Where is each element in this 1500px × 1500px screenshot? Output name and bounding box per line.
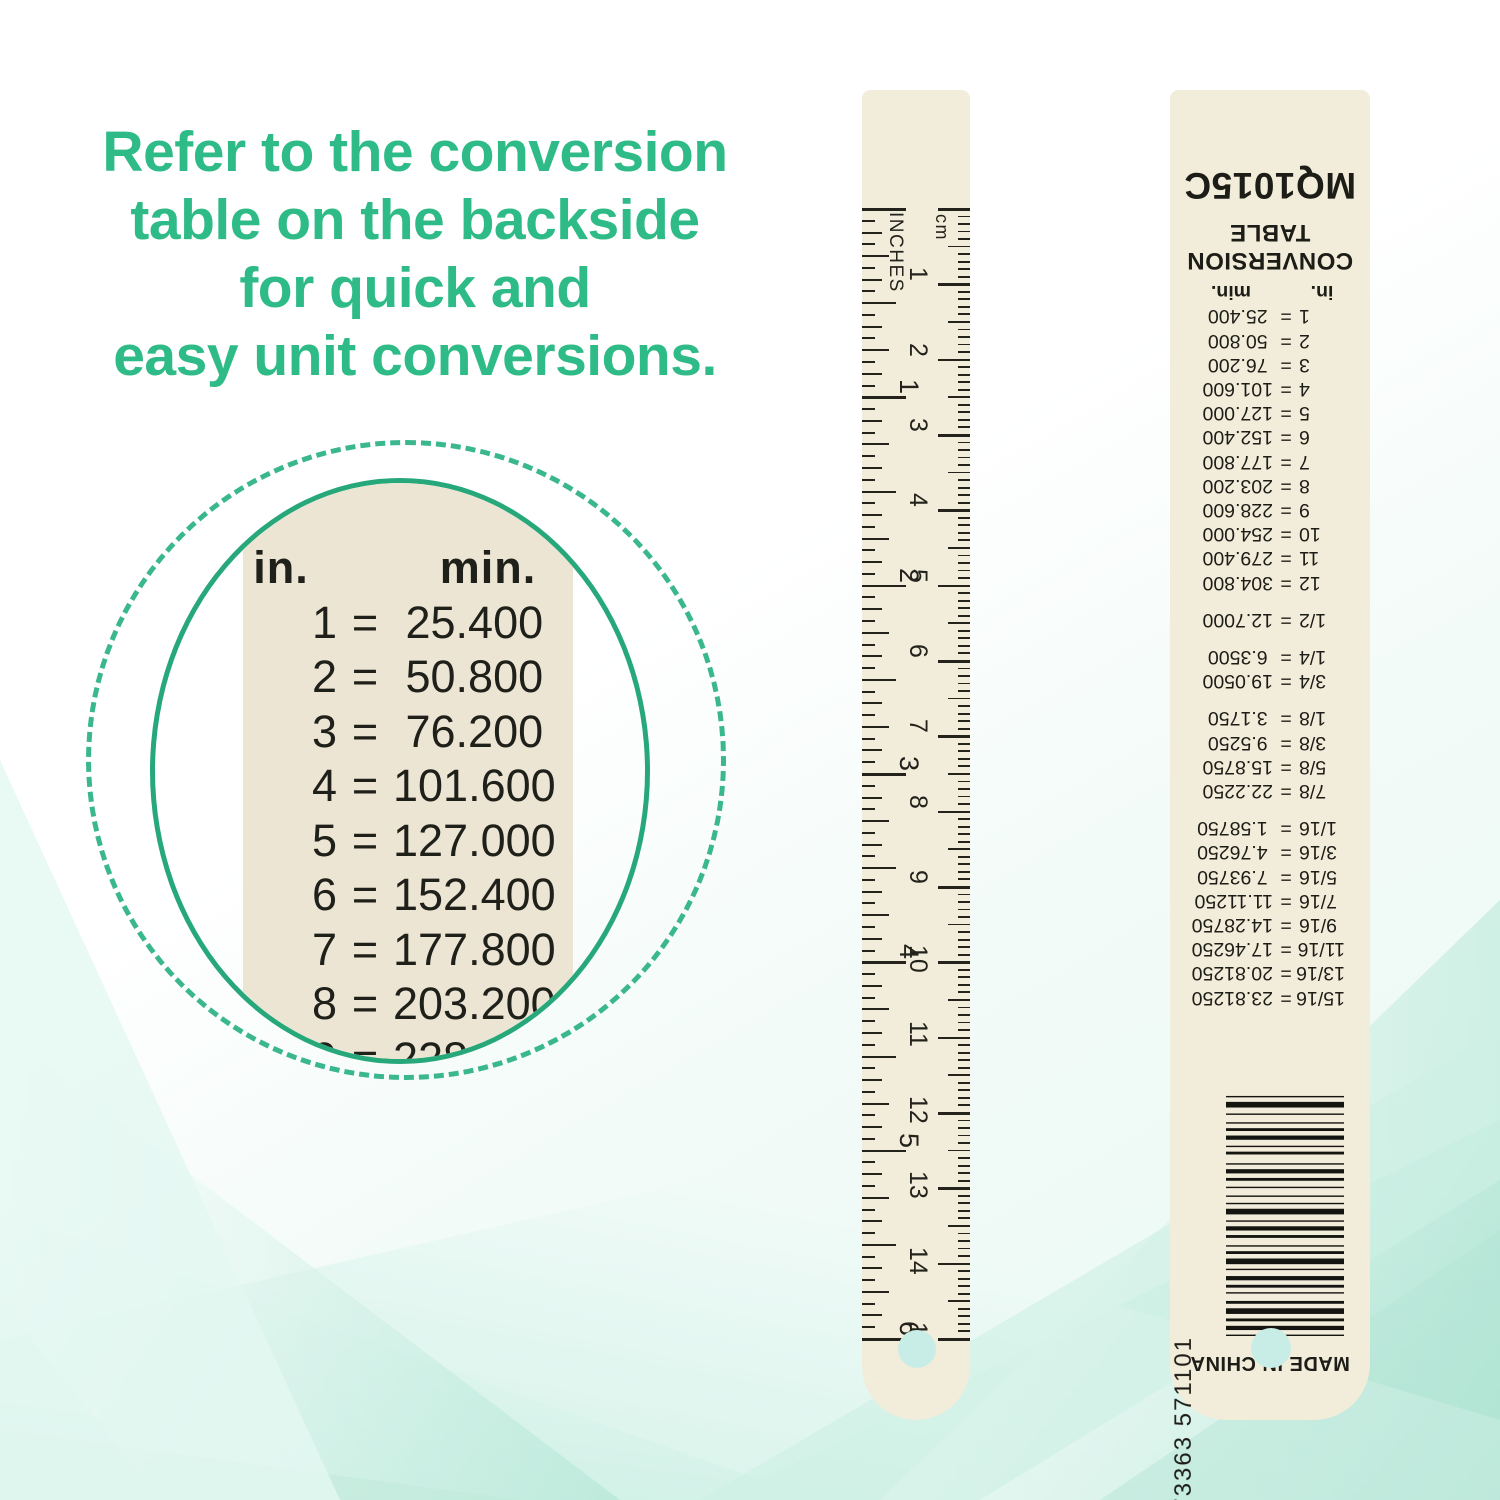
cm-tick (958, 1044, 970, 1046)
equals-sign: = (337, 814, 393, 869)
measure-value: 11 (1299, 546, 1345, 570)
headline-line-1: Refer to the conversion (0, 118, 830, 186)
inch-tick (862, 1279, 875, 1281)
cm-tick (958, 683, 970, 685)
cm-tick (938, 1037, 970, 1040)
inch-tick (862, 337, 875, 339)
cm-tick (958, 690, 970, 692)
cm-tick (958, 1097, 970, 1099)
barcode-number: 6 973363 571101 (1170, 1336, 1416, 1500)
inch-tick (862, 373, 882, 375)
magnifier-lens: in.min.1= 25.4002= 50.8003= 76.2004=101.… (150, 478, 650, 1064)
inch-tick (862, 950, 875, 952)
ruler-front-face: 123456 123456789101112131415 INCHES cm (862, 90, 970, 1420)
barcode-icon (1226, 1090, 1344, 1336)
cm-tick (948, 1074, 970, 1076)
cm-tick (958, 1308, 970, 1310)
cm-tick (958, 1127, 970, 1129)
inch-tick (862, 902, 875, 904)
inch-tick (862, 514, 882, 516)
conversion-table-title: CONVERSION TABLE (1170, 218, 1370, 274)
inch-tick (862, 349, 889, 351)
cm-tick (958, 1278, 970, 1280)
equals-sign: = (1273, 401, 1299, 425)
magnifier-callout: in.min.1= 25.4002= 50.8003= 76.2004=101.… (86, 440, 726, 1080)
magnified-table-row: 5=127.000 (155, 814, 645, 869)
measure-value: 11/16 (1299, 937, 1345, 961)
headline-line-3: for quick and (0, 254, 830, 322)
cm-tick (938, 886, 970, 889)
cm-tick (958, 291, 970, 293)
back-table-row: 3= 76.200 (1170, 353, 1370, 377)
mm-value: 25.400 (1195, 304, 1273, 328)
cm-tick (948, 472, 970, 474)
cm-number: 8 (903, 795, 932, 809)
cm-tick (958, 728, 970, 730)
cm-tick (958, 984, 970, 986)
cm-tick (958, 449, 970, 451)
equals-sign: = (1273, 474, 1299, 498)
inch-tick (862, 691, 875, 693)
mm-value: 279.400 (1195, 546, 1273, 570)
inch-tick (862, 502, 875, 504)
back-table-row: 7/8=22.2250 (1170, 779, 1370, 803)
measure-value: 9 (1299, 498, 1345, 522)
equals-sign: = (1273, 645, 1299, 669)
inch-tick (862, 479, 875, 481)
inch-tick (862, 1032, 882, 1034)
equals-sign: = (1273, 864, 1299, 888)
equals-sign: = (1273, 669, 1299, 693)
back-table-row: 5=127.000 (1170, 401, 1370, 425)
cm-number: 12 (903, 1096, 932, 1124)
measure-value: 5/8 (1299, 755, 1345, 779)
cm-tick (958, 1059, 970, 1061)
back-table-row: 1= 25.400 (1170, 304, 1370, 328)
equals-sign (1270, 280, 1296, 304)
cm-tick (938, 1338, 970, 1341)
cm-tick (958, 1202, 970, 1204)
inch-value: 2 (249, 650, 337, 705)
cm-tick (958, 524, 970, 526)
inch-tick (862, 820, 889, 822)
magnified-table-row: 4=101.600 (155, 759, 645, 814)
cm-tick (958, 976, 970, 978)
mm-value: 12.7000 (1195, 608, 1273, 632)
inch-tick (862, 420, 882, 422)
mm-value: 203.200 (1195, 474, 1273, 498)
mm-value: min. (397, 541, 579, 596)
magnified-table-row: 6=152.400 (155, 868, 645, 923)
cm-number: 13 (903, 1171, 932, 1199)
inch-tick (862, 761, 875, 763)
inch-tick (862, 385, 875, 387)
cm-tick (958, 645, 970, 647)
cm-tick (958, 1172, 970, 1174)
equals-sign: = (1273, 498, 1299, 522)
cm-tick (958, 577, 970, 579)
cm-tick (958, 442, 970, 444)
inch-tick (862, 914, 889, 916)
cm-tick (958, 298, 970, 300)
back-table-row: 1/8= 3.1750 (1170, 706, 1370, 730)
back-table-row: 1/2=12.7000 (1170, 608, 1370, 632)
measure-value: 4 (1299, 377, 1345, 401)
equals-sign: = (337, 923, 393, 978)
equals-sign: = (1273, 706, 1299, 730)
back-table-row: 3/16= 4.76250 (1170, 840, 1370, 864)
conversion-title-line-1: CONVERSION (1170, 246, 1370, 274)
mm-value: 177.800 (393, 923, 551, 978)
cm-tick (958, 366, 970, 368)
cm-tick (958, 758, 970, 760)
cm-tick (948, 848, 970, 850)
cm-tick (958, 863, 970, 865)
cm-number: 9 (903, 870, 932, 884)
magnified-ruler-surface: in.min.1= 25.4002= 50.8003= 76.2004=101.… (155, 483, 645, 1059)
inch-tick (862, 785, 875, 787)
inch-tick (862, 561, 882, 563)
table-spacer (1170, 632, 1370, 645)
mm-value: 17.46250 (1195, 937, 1273, 961)
equals-sign: = (337, 705, 393, 760)
equals-sign: = (1273, 304, 1299, 328)
cm-tick (958, 223, 970, 225)
magnified-table-row: 8=203.200 (155, 977, 645, 1032)
cm-tick (958, 652, 970, 654)
cm-tick (948, 773, 970, 775)
cm-tick (958, 1315, 970, 1317)
back-table-row: 7=177.800 (1170, 449, 1370, 473)
inch-tick (862, 797, 882, 799)
cm-tick (958, 901, 970, 903)
equals-sign: = (1273, 755, 1299, 779)
cm-tick (958, 856, 970, 858)
equals-sign: = (1273, 546, 1299, 570)
back-table-row: 1/4= 6.3500 (1170, 645, 1370, 669)
back-table-row: 2= 50.800 (1170, 328, 1370, 352)
cm-tick (938, 359, 970, 362)
inch-tick (862, 926, 875, 928)
cm-tick (958, 426, 970, 428)
magnified-table-row: 7=177.800 (155, 923, 645, 978)
inch-tick (862, 1267, 882, 1269)
cm-tick (948, 1225, 970, 1227)
inch-tick (862, 538, 889, 540)
inch-tick (862, 714, 875, 716)
inch-tick (862, 279, 882, 281)
inch-tick (862, 702, 882, 704)
cm-tick (948, 622, 970, 624)
cm-tick (958, 675, 970, 677)
cm-tick (958, 1014, 970, 1016)
inch-tick (862, 455, 875, 457)
equals-sign: = (337, 868, 393, 923)
mm-value: 101.600 (1195, 377, 1273, 401)
equals-sign: = (1273, 937, 1299, 961)
cm-tick (958, 329, 970, 331)
mm-value: 101.600 (393, 759, 551, 814)
cm-tick (958, 615, 970, 617)
cm-tick (938, 1112, 970, 1115)
back-table-row: 1/16= 1.58750 (1170, 816, 1370, 840)
measure-value: 1/16 (1299, 816, 1345, 840)
inch-tick (862, 961, 906, 964)
cm-tick (958, 1240, 970, 1242)
inch-tick (862, 832, 875, 834)
cm-tick (958, 479, 970, 481)
cm-number: 4 (903, 493, 932, 507)
cm-tick (958, 630, 970, 632)
inch-number: 1 (893, 379, 924, 394)
cm-tick (958, 781, 970, 783)
cm-tick (938, 961, 970, 964)
inch-tick (862, 232, 882, 234)
inch-tick (862, 1161, 875, 1163)
cm-tick (958, 939, 970, 941)
cm-tick (938, 434, 970, 437)
inch-tick (862, 596, 875, 598)
mm-value: 76.200 (1195, 353, 1273, 377)
inch-tick (862, 443, 889, 445)
cm-tick (958, 1067, 970, 1069)
inch-tick (862, 1020, 875, 1022)
hanging-hole (1251, 1328, 1291, 1368)
cm-tick (958, 1217, 970, 1219)
cm-tick (948, 246, 970, 248)
equals-sign: = (337, 977, 393, 1032)
cm-tick (958, 894, 970, 896)
magnified-table-row: 3= 76.200 (155, 705, 645, 760)
mm-value: 152.400 (1195, 425, 1273, 449)
measure-value: 15/16 (1299, 985, 1345, 1009)
back-table-row: 15/16=23.81250 (1170, 985, 1370, 1009)
equals-sign: = (1273, 522, 1299, 546)
inch-tick (862, 585, 906, 588)
cm-tick (958, 532, 970, 534)
conversion-title-line-2: TABLE (1170, 218, 1370, 246)
cm-tick (938, 735, 970, 738)
inch-tick (862, 891, 882, 893)
cm-tick (948, 698, 970, 700)
cm-tick (958, 946, 970, 948)
inch-tick (862, 1056, 896, 1058)
cm-tick (958, 1135, 970, 1137)
cm-tick (958, 517, 970, 519)
mm-value: 177.800 (1195, 449, 1273, 473)
barcode-block: 6 973363 571101 (1196, 1090, 1344, 1336)
cm-tick (958, 826, 970, 828)
cm-tick (958, 750, 970, 752)
back-table-row: 5/16= 7.93750 (1170, 864, 1370, 888)
back-table-row: 8=203.200 (1170, 474, 1370, 498)
cm-tick (958, 562, 970, 564)
cm-tick (958, 1323, 970, 1325)
inch-tick (862, 267, 875, 269)
measure-value: 13/16 (1299, 961, 1345, 985)
cm-tick (958, 261, 970, 263)
measure-value: 3 (1299, 353, 1345, 377)
measure-value: 7/8 (1299, 779, 1345, 803)
magnified-conversion-table: in.min.1= 25.4002= 50.8003= 76.2004=101.… (155, 541, 645, 1064)
inch-value: 4 (249, 759, 337, 814)
magnified-table-row: 2= 50.800 (155, 650, 645, 705)
cm-tick (958, 1142, 970, 1144)
inch-tick (862, 243, 875, 245)
inch-tick (862, 738, 875, 740)
equals-sign: = (1273, 353, 1299, 377)
inch-tick (862, 1138, 875, 1140)
mm-value: 25.400 (393, 596, 551, 651)
mm-value: 15.8750 (1195, 755, 1273, 779)
mm-value: 19.0500 (1195, 669, 1273, 693)
cm-tick (958, 555, 970, 557)
cm-tick (958, 1180, 970, 1182)
cm-number: 1 (903, 267, 932, 281)
inch-tick (862, 491, 896, 493)
cm-tick (958, 743, 970, 745)
inch-tick (862, 290, 875, 292)
cm-tick (938, 660, 970, 663)
inch-tick (862, 1008, 889, 1010)
magnified-table-row: 1= 25.400 (155, 596, 645, 651)
cm-tick (958, 381, 970, 383)
cm-tick (948, 547, 970, 549)
back-table-row: 11=279.400 (1170, 546, 1370, 570)
cm-tick (958, 668, 970, 670)
inch-number: 3 (893, 756, 924, 771)
inch-tick (862, 326, 882, 328)
mm-value: 50.800 (393, 650, 551, 705)
inch-value: 1 (249, 596, 337, 651)
back-table-row: 9/16=14.28750 (1170, 913, 1370, 937)
cm-tick (958, 1022, 970, 1024)
inch-tick (862, 467, 882, 469)
equals-sign: = (337, 596, 393, 651)
equals-sign: = (1273, 425, 1299, 449)
cm-tick (958, 916, 970, 918)
inch-tick (862, 314, 875, 316)
inch-tick (862, 632, 889, 634)
measure-value: 5 (1299, 401, 1345, 425)
cm-tick (958, 1248, 970, 1250)
cm-tick (958, 765, 970, 767)
measure-value: 8 (1299, 474, 1345, 498)
cm-tick (958, 336, 970, 338)
cm-tick (958, 502, 970, 504)
measure-value: 1 (1299, 304, 1345, 328)
inch-tick (862, 1314, 882, 1316)
product-marketing-image: Refer to the conversion table on the bac… (0, 0, 1500, 1500)
measure-value: 1/2 (1299, 608, 1345, 632)
inch-tick (862, 1126, 882, 1128)
cm-tick (958, 1195, 970, 1197)
hanging-hole (898, 1330, 936, 1368)
cm-tick (958, 1157, 970, 1159)
measure-value: 5/16 (1299, 864, 1345, 888)
cm-tick (958, 871, 970, 873)
cm-tick (958, 1120, 970, 1122)
cm-tick (958, 351, 970, 353)
measure-value: 2 (1299, 328, 1345, 352)
measure-value: 1/8 (1299, 706, 1345, 730)
cm-tick (938, 811, 970, 814)
equals-sign: = (1273, 570, 1299, 594)
cm-tick (958, 1165, 970, 1167)
cm-tick (958, 1210, 970, 1212)
mm-value: 20.81250 (1195, 961, 1273, 985)
back-table-row: 3/4=19.0500 (1170, 669, 1370, 693)
magnified-table-row: 9=228.600 (155, 1032, 645, 1065)
cm-tick (958, 1285, 970, 1287)
inch-tick (862, 1244, 896, 1246)
cm-tick (958, 487, 970, 489)
cm-scale-label: cm (931, 214, 952, 241)
mm-value: 1.58750 (1195, 816, 1273, 840)
cm-tick (938, 509, 970, 512)
back-table-row: 9=228.600 (1170, 498, 1370, 522)
mm-value: 50.800 (1195, 328, 1273, 352)
equals-sign: = (1273, 328, 1299, 352)
measure-value: 7/16 (1299, 889, 1345, 913)
headline-line-2: table on the backside (0, 186, 830, 254)
ruler-back-printed-content: MADE IN CHINA 6 973363 571101 15/16=23.8… (1170, 90, 1370, 1420)
mm-value: 14.28750 (1195, 913, 1273, 937)
equals-sign: = (337, 650, 393, 705)
cm-number: 10 (903, 945, 932, 973)
equals-sign: = (1273, 840, 1299, 864)
measure-value: 12 (1299, 570, 1345, 594)
cm-number: 6 (903, 644, 932, 658)
inch-tick (862, 773, 906, 776)
cm-tick (958, 457, 970, 459)
cm-tick (958, 389, 970, 391)
cm-tick (958, 268, 970, 270)
cm-tick (958, 404, 970, 406)
cm-tick (958, 1104, 970, 1106)
inch-tick (862, 938, 882, 940)
cm-tick (938, 1187, 970, 1190)
cm-tick (958, 464, 970, 466)
inch-tick (862, 1197, 889, 1199)
inch-tick (862, 808, 875, 810)
equals-sign: = (1273, 377, 1299, 401)
cm-tick (958, 411, 970, 413)
cm-tick (958, 841, 970, 843)
inch-tick (862, 644, 875, 646)
back-table-row: 13/16=20.81250 (1170, 961, 1370, 985)
inch-tick (862, 1209, 875, 1211)
equals-sign: = (1273, 730, 1299, 754)
inch-tick (862, 432, 875, 434)
inch-tick (862, 1256, 875, 1258)
measure-value: 9/16 (1299, 913, 1345, 937)
mm-value: 127.000 (393, 814, 551, 869)
table-spacer (1170, 693, 1370, 706)
cm-tick (958, 803, 970, 805)
cm-tick (958, 607, 970, 609)
equals-sign: = (1273, 816, 1299, 840)
cm-tick (958, 991, 970, 993)
inch-tick (862, 1079, 882, 1081)
inch-tick (862, 620, 875, 622)
mm-value: 76.200 (393, 705, 551, 760)
inch-tick (862, 985, 882, 987)
inch-tick (862, 1291, 889, 1293)
cm-tick (958, 1255, 970, 1257)
inch-tick (862, 855, 875, 857)
cm-tick (958, 909, 970, 911)
